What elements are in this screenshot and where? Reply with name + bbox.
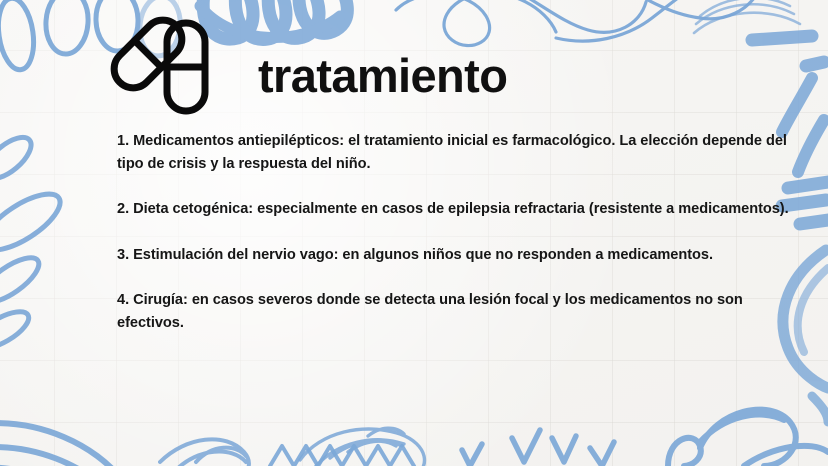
slide-canvas: tratamiento 1. Medicamentos antiepilépti… xyxy=(0,0,828,466)
list-item: 2. Dieta cetogénica: especialmente en ca… xyxy=(117,198,789,221)
treatment-list: 1. Medicamentos antiepilépticos: el trat… xyxy=(117,130,789,334)
list-item: 3. Estimulación del nervio vago: en algu… xyxy=(117,244,789,267)
list-item: 1. Medicamentos antiepilépticos: el trat… xyxy=(117,130,789,175)
list-item: 4. Cirugía: en casos severos donde se de… xyxy=(117,289,789,334)
page-title: tratamiento xyxy=(258,52,507,99)
pills-icon xyxy=(104,8,226,120)
slide-content: tratamiento 1. Medicamentos antiepilépti… xyxy=(0,0,828,466)
